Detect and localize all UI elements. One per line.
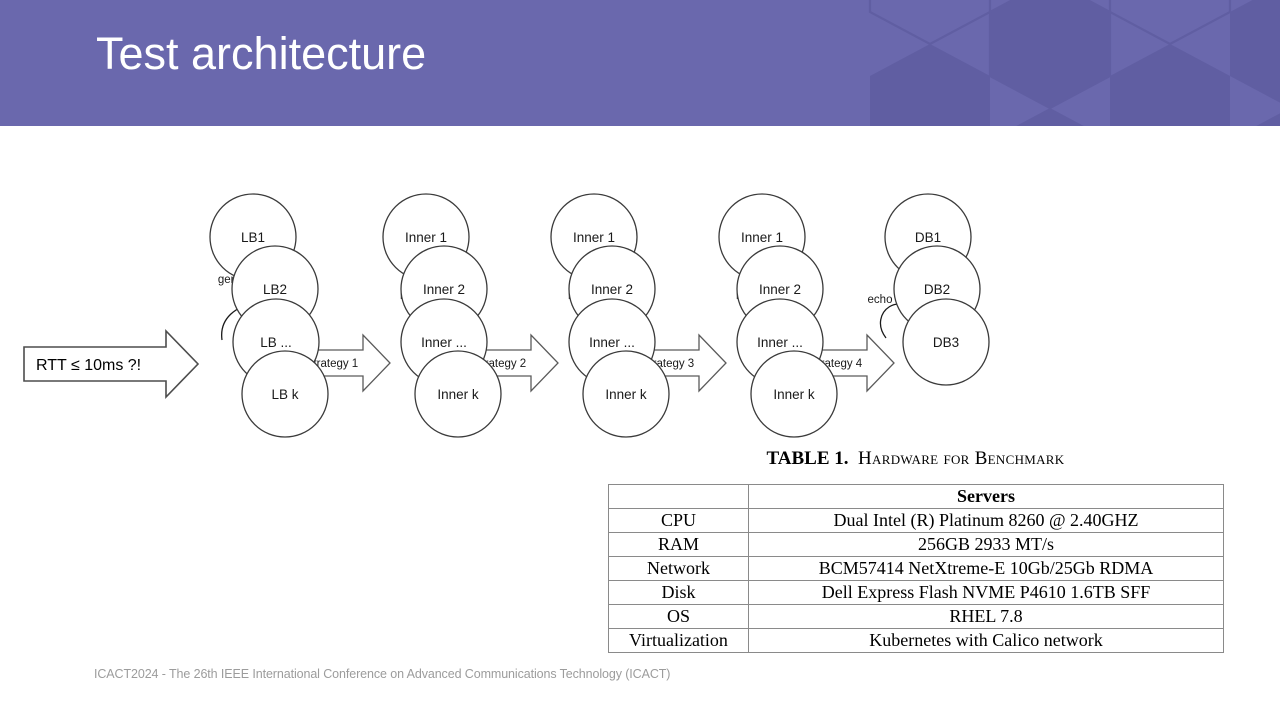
rtt-entry-arrow: RTT ≤ 10ms ?! bbox=[24, 331, 198, 397]
row-value-os: RHEL 7.8 bbox=[749, 605, 1224, 629]
hardware-table: Servers CPU Dual Intel (R) Platinum 8260… bbox=[608, 484, 1224, 653]
hexagon-pattern-decoration bbox=[820, 0, 1280, 126]
hardware-table-block: TABLE 1. Hardware for Benchmark Servers … bbox=[608, 448, 1223, 653]
table-column-header-servers: Servers bbox=[749, 485, 1224, 509]
node-label: Inner ... bbox=[589, 335, 635, 350]
node-label: LB k bbox=[271, 387, 298, 402]
table-row: Network BCM57414 NetXtreme-E 10Gb/25Gb R… bbox=[609, 557, 1224, 581]
node-label: Inner 2 bbox=[759, 282, 801, 297]
node-circle: Inner k bbox=[751, 351, 837, 437]
row-label-virtualization: Virtualization bbox=[609, 629, 749, 653]
table-row: RAM 256GB 2933 MT/s bbox=[609, 533, 1224, 557]
row-value-virtualization: Kubernetes with Calico network bbox=[749, 629, 1224, 653]
row-value-disk: Dell Express Flash NVME P4610 1.6TB SFF bbox=[749, 581, 1224, 605]
layer2-inner-stack: Inner 1 Inner 2 Inner ... Inner k bbox=[383, 194, 501, 437]
table-corner-cell bbox=[609, 485, 749, 509]
node-circle: Inner k bbox=[583, 351, 669, 437]
node-label: Inner ... bbox=[421, 335, 467, 350]
table-caption-number: TABLE 1. bbox=[767, 448, 849, 469]
table-header-row: Servers bbox=[609, 485, 1224, 509]
node-circle: DB3 bbox=[903, 299, 989, 385]
row-label-network: Network bbox=[609, 557, 749, 581]
load-balancer-stack: LB1 LB2 LB ... LB k bbox=[210, 194, 328, 437]
page-title: Test architecture bbox=[96, 28, 426, 80]
node-label: Inner 1 bbox=[405, 230, 447, 245]
row-value-ram: 256GB 2933 MT/s bbox=[749, 533, 1224, 557]
node-label: Inner k bbox=[437, 387, 479, 402]
test-architecture-diagram: RTT ≤ 10ms ?! generate load echo Layer2 … bbox=[0, 126, 1280, 456]
row-label-disk: Disk bbox=[609, 581, 749, 605]
rtt-entry-label: RTT ≤ 10ms ?! bbox=[36, 357, 141, 374]
node-circle: Inner k bbox=[415, 351, 501, 437]
echo-label: echo bbox=[868, 294, 893, 306]
table-caption: TABLE 1. Hardware for Benchmark bbox=[608, 448, 1223, 470]
node-label: Inner 1 bbox=[741, 230, 783, 245]
row-label-os: OS bbox=[609, 605, 749, 629]
row-value-cpu: Dual Intel (R) Platinum 8260 @ 2.40GHZ bbox=[749, 509, 1224, 533]
node-label: Inner k bbox=[773, 387, 815, 402]
node-label: DB3 bbox=[933, 335, 959, 350]
node-label: Inner ... bbox=[757, 335, 803, 350]
footer-conference-note: ICACT2024 - The 26th IEEE International … bbox=[94, 667, 670, 681]
node-label: DB2 bbox=[924, 282, 950, 297]
slide-header-band: Test architecture bbox=[0, 0, 1280, 126]
table-row: Virtualization Kubernetes with Calico ne… bbox=[609, 629, 1224, 653]
row-label-cpu: CPU bbox=[609, 509, 749, 533]
node-label: LB ... bbox=[260, 335, 292, 350]
node-label: DB1 bbox=[915, 230, 941, 245]
node-label: Inner k bbox=[605, 387, 647, 402]
layer3-inner-stack: Inner 1 Inner 2 Inner ... Inner k bbox=[551, 194, 669, 437]
node-label: Inner 1 bbox=[573, 230, 615, 245]
node-label: Inner 2 bbox=[591, 282, 633, 297]
table-row: CPU Dual Intel (R) Platinum 8260 @ 2.40G… bbox=[609, 509, 1224, 533]
node-label: LB1 bbox=[241, 230, 265, 245]
table-caption-title: Hardware for Benchmark bbox=[858, 448, 1064, 469]
database-stack: DB1 DB2 DB3 bbox=[885, 194, 989, 385]
table-row: OS RHEL 7.8 bbox=[609, 605, 1224, 629]
row-value-network: BCM57414 NetXtreme-E 10Gb/25Gb RDMA bbox=[749, 557, 1224, 581]
table-row: Disk Dell Express Flash NVME P4610 1.6TB… bbox=[609, 581, 1224, 605]
node-label: Inner 2 bbox=[423, 282, 465, 297]
node-label: LB2 bbox=[263, 282, 287, 297]
node-circle: LB k bbox=[242, 351, 328, 437]
layer4-inner-stack: Inner 1 Inner 2 Inner ... Inner k bbox=[719, 194, 837, 437]
row-label-ram: RAM bbox=[609, 533, 749, 557]
